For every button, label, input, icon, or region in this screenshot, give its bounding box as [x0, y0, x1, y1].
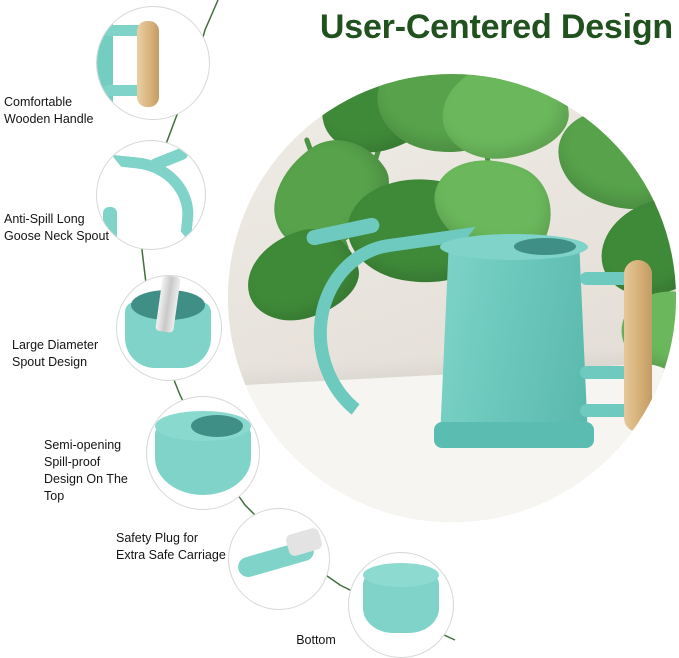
main-product-photo	[228, 74, 676, 522]
feature-bubble-safety-plug	[228, 508, 330, 610]
infographic-root: User-Centered Design	[0, 0, 679, 658]
feature-caption-goose-neck-spout: Anti-Spill Long Goose Neck Spout	[4, 211, 124, 245]
feature-caption-safety-plug: Safety Plug for Extra Safe Carriage	[116, 530, 226, 564]
feature-caption-bottom: Bottom	[288, 632, 344, 649]
feature-caption-wooden-handle: Comfortable Wooden Handle	[4, 94, 114, 128]
page-title: User-Centered Design	[320, 8, 673, 47]
feature-bubble-semi-opening-top	[146, 396, 260, 510]
feature-caption-semi-opening-top: Semi-opening Spill-proof Design On The T…	[44, 437, 144, 505]
feature-bubble-bottom	[348, 552, 454, 658]
feature-caption-large-diameter-spout: Large Diameter Spout Design	[12, 337, 120, 371]
feature-bubble-large-diameter-spout	[116, 275, 222, 381]
